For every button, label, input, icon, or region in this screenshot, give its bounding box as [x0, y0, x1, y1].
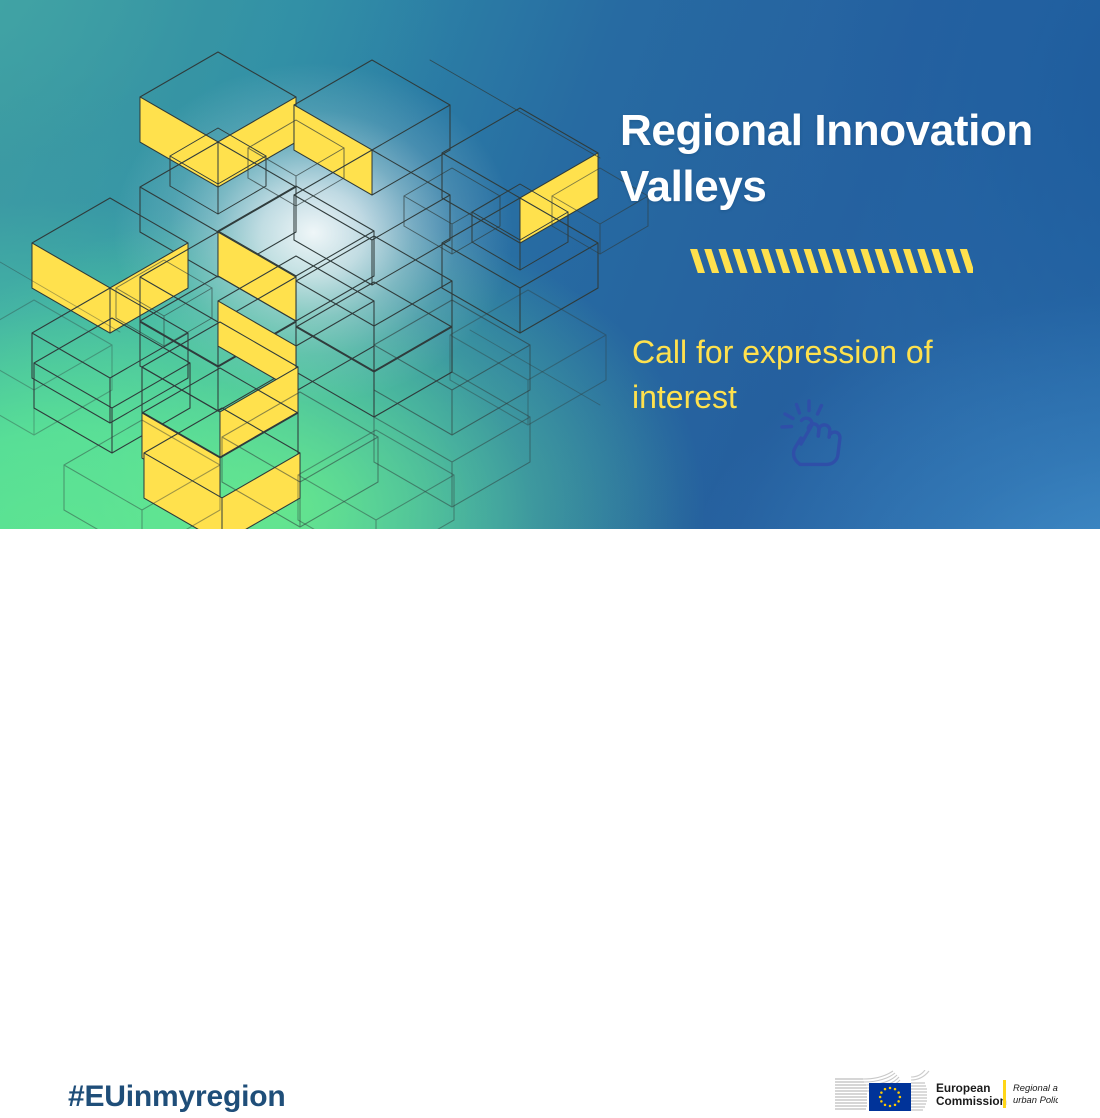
zigzag-stroke [889, 249, 904, 273]
zigzag-stroke [761, 249, 776, 273]
logo-line-fan-right [911, 1083, 927, 1110]
zigzag-stroke [846, 249, 861, 273]
zigzag-stroke [704, 249, 719, 273]
zigzag-stroke [931, 249, 946, 273]
logo-swoosh-right [911, 1070, 929, 1080]
hero-headline: Regional Innovation Valleys [620, 103, 1090, 216]
hashtag-label: #EUinmyregion [68, 1080, 285, 1114]
logo-divider [1003, 1080, 1006, 1108]
zigzag-stroke [903, 249, 918, 273]
logo-line-fan-left [835, 1079, 867, 1109]
zigzag-stroke [960, 249, 973, 273]
banner-hero: Regional Innovation Valleys Call for exp… [0, 0, 1100, 529]
zigzag-stroke [718, 249, 733, 273]
zigzag-stroke [733, 249, 748, 273]
hero-headline-line-1: Regional Innovation [620, 103, 1090, 159]
hero-headline-line-2: Valleys [620, 159, 1090, 215]
footer-bar: #EUinmyregion [0, 529, 1100, 619]
click-hand-icon [770, 392, 850, 470]
zigzag-stroke [789, 249, 804, 273]
zigzag-stroke [875, 249, 890, 273]
zigzag-stroke [690, 249, 705, 273]
zigzag-stroke [747, 249, 762, 273]
logo-institution-line-1: European [936, 1081, 990, 1095]
zigzag-stroke [946, 249, 961, 273]
zigzag-stroke [818, 249, 833, 273]
zigzag-stroke [804, 249, 819, 273]
european-commission-logo: European Commission Regional and urban P… [833, 1070, 1058, 1118]
zigzag-stroke [832, 249, 847, 273]
logo-institution-line-2: Commission [936, 1094, 1007, 1108]
zigzag-stroke [775, 249, 790, 273]
logo-dg-line-2: urban Policy [1013, 1094, 1058, 1105]
hero-subheadline-line-1: Call for expression of [632, 330, 1032, 375]
zigzag-stroke [860, 249, 875, 273]
zigzag-stroke [917, 249, 932, 273]
zigzag-divider-icon [688, 246, 973, 278]
logo-dg-line-1: Regional and [1013, 1082, 1058, 1093]
